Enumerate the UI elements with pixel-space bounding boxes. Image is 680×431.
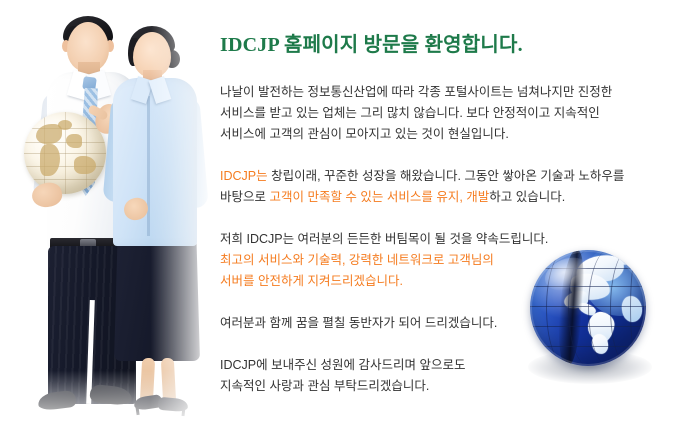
body-text: 저희 IDCJP는 여러분의 든든한 버팀목이 될 것을 약속드립니다. bbox=[220, 232, 548, 246]
text-line: 서비스에 고객의 관심이 모아지고 있는 것이 현실입니다. bbox=[220, 124, 670, 145]
accent-text: 고객이 만족할 수 있는 서비스를 유지, 개발 bbox=[269, 190, 489, 204]
woman-right-shoe bbox=[157, 397, 188, 413]
paragraph-p1: 나날이 발전하는 정보통신산업에 따라 각종 포털사이트는 넘쳐나지만 진정한서… bbox=[220, 82, 670, 145]
man-left-shoe bbox=[37, 390, 77, 412]
body-text: 지속적인 사랑과 관심 부탁드리겠습니다. bbox=[220, 379, 429, 393]
woman-blouse-placket bbox=[147, 96, 150, 236]
body-text: 바탕으로 bbox=[220, 190, 269, 204]
body-text: IDCJP에 보내주신 성원에 감사드리며 앞으로도 bbox=[220, 358, 466, 372]
body-text: 여러분과 함께 꿈을 펼칠 동반자가 되어 드리겠습니다. bbox=[220, 316, 497, 330]
text-line: 나날이 발전하는 정보통신산업에 따라 각종 포털사이트는 넘쳐나지만 진정한 bbox=[220, 82, 670, 103]
accent-text: 서버를 안전하게 지켜드리겠습니다. bbox=[220, 274, 403, 288]
business-people-photo bbox=[0, 0, 215, 431]
page-title: IDCJP 홈페이지 방문을 환영합니다. bbox=[220, 28, 523, 57]
antique-globe-prop bbox=[24, 112, 106, 194]
globe-rim-light bbox=[530, 250, 646, 366]
accent-text: IDCJP는 bbox=[220, 169, 268, 183]
body-text: 하고 있습니다. bbox=[489, 190, 565, 204]
body-text: 서비스를 받고 있는 업체는 그리 많치 않습니다. 보다 안정적이고 지속적인 bbox=[220, 106, 600, 120]
paragraph-p2: IDCJP는 창립이래, 꾸준한 성장을 해왔습니다. 그동안 쌓아온 기술과 … bbox=[220, 166, 670, 208]
blue-globe-illustration bbox=[516, 246, 664, 396]
globe-sphere bbox=[530, 250, 646, 366]
text-line: 바탕으로 고객이 만족할 수 있는 서비스를 유지, 개발하고 있습니다. bbox=[220, 187, 670, 208]
body-text: 창립이래, 꾸준한 성장을 해왔습니다. 그동안 쌓아온 기술과 노하우를 bbox=[268, 169, 625, 183]
accent-text: 최고의 서비스와 기술력, 강력한 네트워크로 고객님의 bbox=[220, 253, 494, 267]
body-text: 서비스에 고객의 관심이 모아지고 있는 것이 현실입니다. bbox=[220, 127, 509, 141]
welcome-page: IDCJP 홈페이지 방문을 환영합니다. 나날이 발전하는 정보통신산업에 따… bbox=[0, 0, 680, 431]
woman-skirt bbox=[114, 243, 200, 361]
text-line: IDCJP는 창립이래, 꾸준한 성장을 해왔습니다. 그동안 쌓아온 기술과 … bbox=[220, 166, 670, 187]
text-line: 서비스를 받고 있는 업체는 그리 많치 않습니다. 보다 안정적이고 지속적인 bbox=[220, 103, 670, 124]
body-text: 나날이 발전하는 정보통신산업에 따라 각종 포털사이트는 넘쳐나지만 진정한 bbox=[220, 85, 612, 99]
